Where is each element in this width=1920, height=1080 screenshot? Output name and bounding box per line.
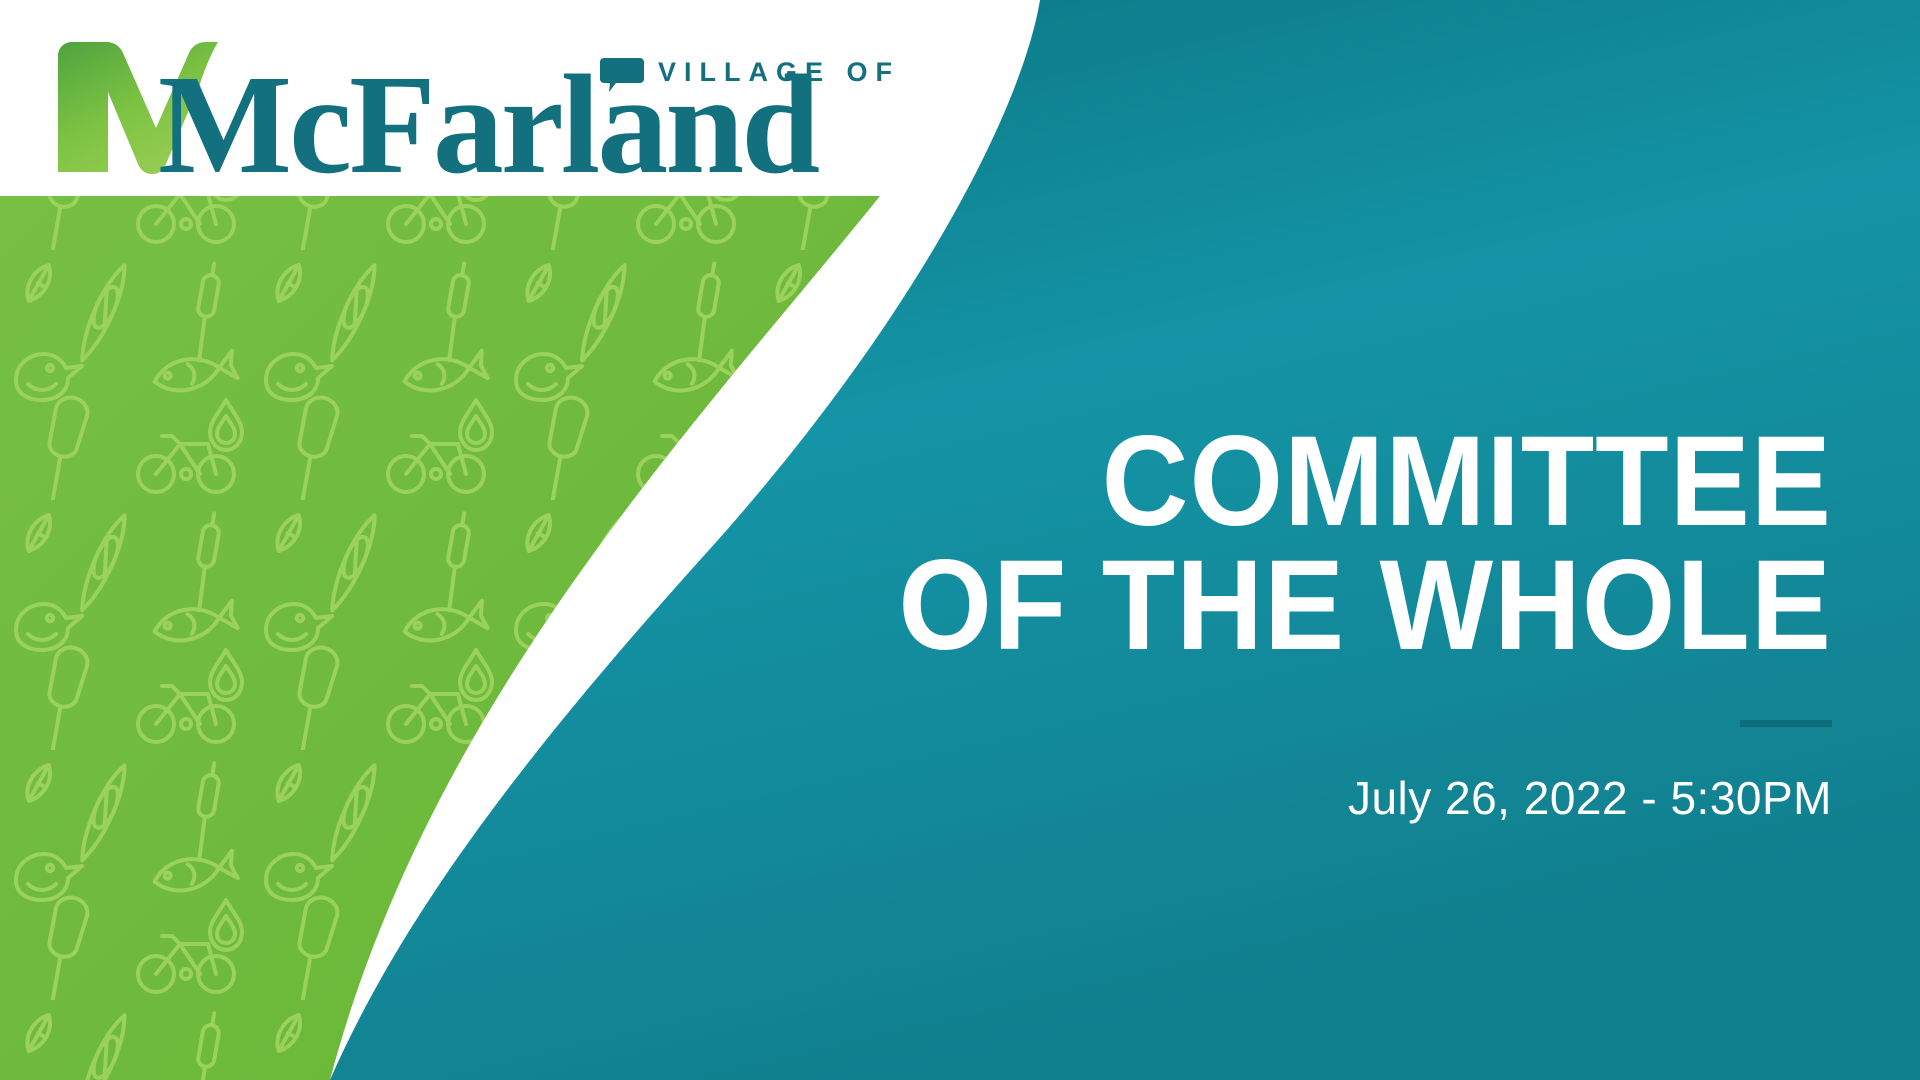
logo-eyebrow-text: VILLAGE OF: [658, 57, 900, 87]
meeting-datetime: July 26, 2022 - 5:30PM: [722, 771, 1832, 825]
meeting-title-card: McFarland VILLAGE OF COMMITTEE OF THE WH…: [0, 0, 1920, 1080]
village-logo[interactable]: McFarland VILLAGE OF: [40, 22, 970, 182]
meeting-title-line-1: COMMITTEE: [789, 420, 1832, 544]
title-divider-rule: [1740, 720, 1832, 727]
village-logo-svg: McFarland VILLAGE OF: [40, 22, 970, 182]
meeting-title-line-2: OF THE WHOLE: [789, 544, 1832, 668]
meeting-heading: COMMITTEE OF THE WHOLE July 26, 2022 - 5…: [722, 420, 1832, 825]
